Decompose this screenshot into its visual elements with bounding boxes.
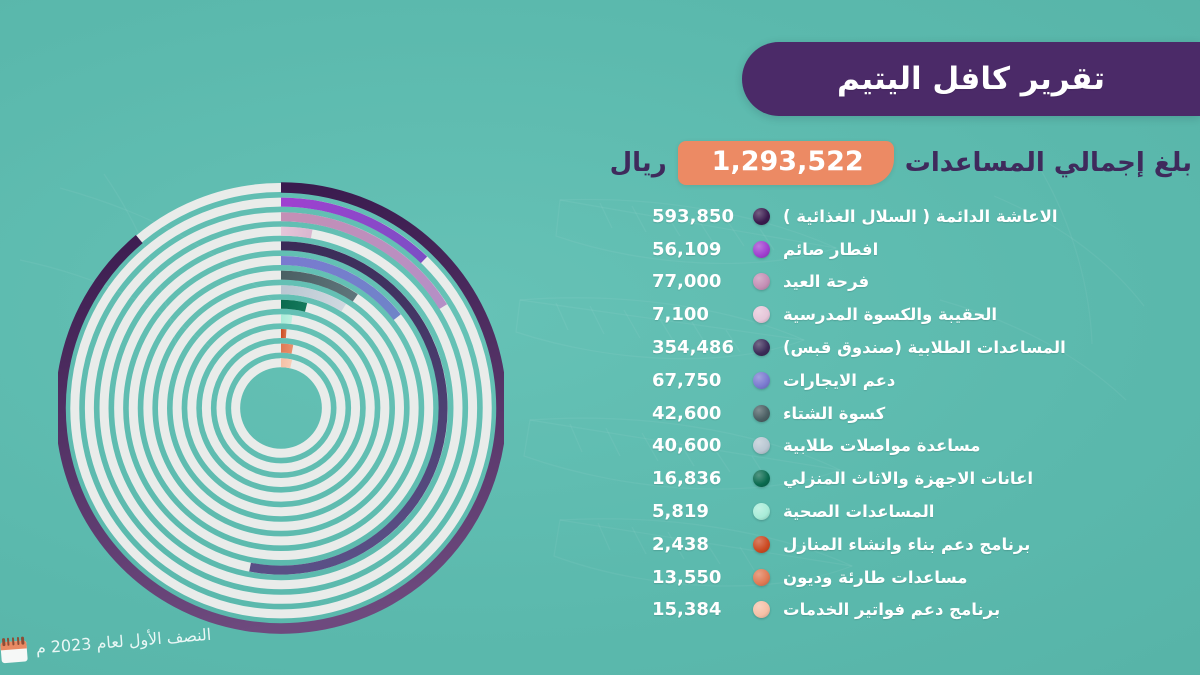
- legend-item[interactable]: فرحة العيد77,000: [652, 266, 1122, 299]
- legend-item-value: 13,550: [652, 567, 744, 588]
- infographic-canvas: تقرير كافل اليتيم بلغ إجمالي المساعدات 1…: [0, 0, 1200, 675]
- chart-ring-bar[interactable]: [281, 319, 292, 320]
- chart-ring-track: [104, 231, 458, 584]
- chart-ring-track: [206, 333, 355, 482]
- legend-color-dot: [753, 208, 770, 225]
- legend-color-dot: [753, 470, 770, 487]
- legend-item-value: 5,819: [652, 501, 744, 522]
- legend-color-dot: [753, 569, 770, 586]
- legend-item-label: المساعدات الطلابية (صندوق قبس): [779, 338, 1122, 357]
- legend-item[interactable]: المساعدات الصحية5,819: [652, 495, 1122, 528]
- calendar-icon: [0, 636, 28, 663]
- legend-item[interactable]: دعم الايجارات67,750: [652, 364, 1122, 397]
- legend-item-value: 354,486: [652, 337, 744, 358]
- legend-color-dot: [753, 405, 770, 422]
- legend-color-dot: [753, 306, 770, 323]
- legend-item-label: الاعاشة الدائمة ( السلال الغذائية ): [779, 207, 1122, 226]
- legend-item[interactable]: برنامج دعم فواتير الخدمات15,384: [652, 594, 1122, 627]
- legend-item-label: كسوة الشتاء: [779, 404, 1122, 423]
- legend-item-value: 67,750: [652, 370, 744, 391]
- legend-color-dot: [753, 601, 770, 618]
- radial-spiral-bar-chart: [58, 172, 504, 642]
- legend-item-value: 2,438: [652, 534, 744, 555]
- legend-item[interactable]: المساعدات الطلابية (صندوق قبس)354,486: [652, 331, 1122, 364]
- total-assistance-label: بلغ إجمالي المساعدات: [905, 148, 1192, 178]
- chart-ring-bar[interactable]: [61, 188, 502, 629]
- legend-item[interactable]: مساعدات طارئة وديون13,550: [652, 561, 1122, 594]
- legend-item[interactable]: الاعاشة الدائمة ( السلال الغذائية )593,8…: [652, 200, 1122, 233]
- legend-color-dot: [753, 339, 770, 356]
- legend-item[interactable]: اعانات الاجهزة والاثاث المنزلي16,836: [652, 462, 1122, 495]
- legend-color-dot: [753, 536, 770, 553]
- page-title: تقرير كافل اليتيم: [837, 61, 1105, 97]
- report-title-banner: تقرير كافل اليتيم: [742, 42, 1200, 116]
- legend-item-label: برنامج دعم بناء وانشاء المنازل: [779, 535, 1122, 554]
- legend-item[interactable]: مساعدة مواصلات طلابية40,600: [652, 430, 1122, 463]
- total-assistance-value-badge: 1,293,522: [678, 141, 894, 185]
- legend-item-label: مساعدة مواصلات طلابية: [779, 436, 1122, 455]
- currency-label: ريال: [610, 148, 667, 178]
- chart-ring-track: [163, 290, 400, 527]
- legend-item-label: دعم الايجارات: [779, 371, 1122, 390]
- legend-item[interactable]: برنامج دعم بناء وانشاء المنازل2,438: [652, 528, 1122, 561]
- legend-item-label: برنامج دعم فواتير الخدمات: [779, 600, 1122, 619]
- legend-item[interactable]: الحقيبة والكسوة المدرسية7,100: [652, 298, 1122, 331]
- legend-item-label: اعانات الاجهزة والاثاث المنزلي: [779, 469, 1122, 488]
- legend-item-label: المساعدات الصحية: [779, 502, 1122, 521]
- legend-item-value: 593,850: [652, 206, 744, 227]
- total-assistance-row: بلغ إجمالي المساعدات 1,293,522 ريال: [610, 140, 1192, 186]
- legend-color-dot: [753, 437, 770, 454]
- chart-ring-bars: [61, 188, 502, 629]
- legend-item-label: فرحة العيد: [779, 272, 1122, 291]
- chart-ring-bar[interactable]: [281, 231, 312, 234]
- chart-ring-bar[interactable]: [281, 348, 292, 349]
- chart-ring-bar[interactable]: [281, 363, 291, 364]
- legend-item-value: 77,000: [652, 271, 744, 292]
- legend-item-value: 15,384: [652, 599, 744, 620]
- legend-color-dot: [753, 503, 770, 520]
- legend-item-label: افطار صائم: [779, 240, 1122, 259]
- chart-ring-track: [236, 363, 327, 454]
- legend-item-value: 40,600: [652, 435, 744, 456]
- legend-color-dot: [753, 273, 770, 290]
- chart-legend: الاعاشة الدائمة ( السلال الغذائية )593,8…: [652, 200, 1122, 626]
- legend-item[interactable]: كسوة الشتاء42,600: [652, 397, 1122, 430]
- legend-item-label: مساعدات طارئة وديون: [779, 568, 1122, 587]
- legend-item-value: 56,109: [652, 239, 744, 260]
- chart-ring-bar[interactable]: [281, 304, 306, 307]
- legend-item[interactable]: افطار صائم56,109: [652, 233, 1122, 266]
- legend-item-label: الحقيبة والكسوة المدرسية: [779, 305, 1122, 324]
- legend-item-value: 16,836: [652, 468, 744, 489]
- legend-item-value: 7,100: [652, 304, 744, 325]
- legend-item-value: 42,600: [652, 403, 744, 424]
- legend-color-dot: [753, 372, 770, 389]
- legend-color-dot: [753, 241, 770, 258]
